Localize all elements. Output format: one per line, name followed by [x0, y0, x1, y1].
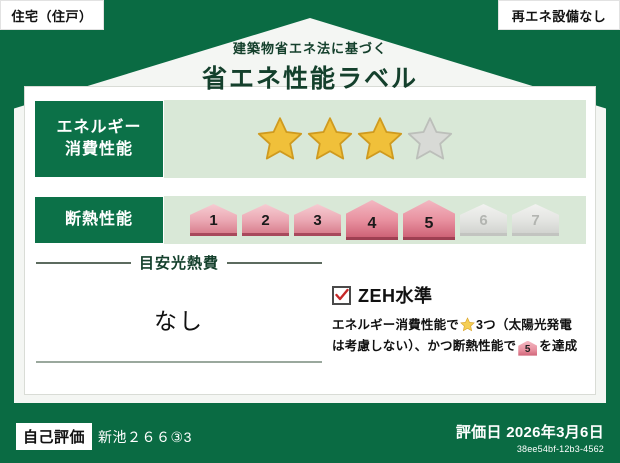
building-type-tag: 住宅（住戸）	[0, 0, 104, 30]
energy-star-rating	[164, 100, 586, 178]
energy-performance-label: 住宅（住戸） 再エネ設備なし 建築物省エネ法に基づく 省エネ性能ラベル エネルギ…	[0, 0, 620, 463]
insulation-grade-1: 1	[190, 204, 237, 236]
evaluation-date: 評価日 2026年3月6日	[456, 421, 604, 442]
evaluation-date-value: 2026年3月6日	[506, 424, 604, 441]
renewable-energy-tag: 再エネ設備なし	[498, 0, 620, 30]
star-empty-icon	[406, 115, 454, 163]
star-filled-icon	[256, 115, 304, 163]
insulation-grade-4: 4	[346, 200, 398, 240]
utility-cost-bottom-rule	[36, 361, 322, 363]
insulation-grade-2: 2	[242, 204, 289, 236]
star-filled-icon	[356, 115, 404, 163]
zeh-desc-star-count: 3つ（太陽光発電	[476, 318, 572, 332]
insulation-grade-3: 3	[294, 204, 341, 236]
utility-cost-value: なし	[36, 277, 322, 361]
zeh-panel: ZEH水準 エネルギー消費性能で3つ（太陽光発電は考慮しない）、かつ断熱性能で5…	[332, 282, 590, 356]
zeh-header: ZEH水準	[332, 282, 590, 308]
energy-label-line1: エネルギー	[56, 117, 141, 139]
rule-left	[36, 262, 131, 264]
star-filled-icon	[306, 115, 354, 163]
renewable-energy-label: 再エネ設備なし	[512, 6, 607, 25]
rule-right	[227, 262, 322, 264]
document-id: 38ee54bf-12b3-4562	[456, 444, 604, 454]
energy-performance-row: エネルギー 消費性能	[34, 100, 586, 178]
zeh-title: ZEH水準	[358, 282, 433, 308]
insulation-grade-7: 7	[512, 204, 559, 236]
property-name: 新池２６６③3	[98, 427, 192, 447]
utility-cost-panel: 目安光熱費 なし	[36, 252, 322, 386]
utility-cost-title: 目安光熱費	[139, 252, 219, 273]
zeh-desc-part1: エネルギー消費性能で	[332, 318, 459, 332]
insulation-label: 断熱性能	[65, 209, 133, 231]
star-icon	[460, 317, 475, 332]
zeh-description: エネルギー消費性能で3つ（太陽光発電は考慮しない）、かつ断熱性能で5を達成	[332, 315, 590, 356]
evaluation-date-label: 評価日	[456, 424, 502, 441]
insulation-grade-5: 5	[403, 200, 455, 240]
insulation-grade-6: 6	[460, 204, 507, 236]
utility-cost-header: 目安光熱費	[36, 252, 322, 273]
insulation-performance-row: 断熱性能 1234567	[34, 196, 586, 244]
insulation-grade-scale: 1234567	[164, 196, 586, 244]
zeh-desc-part2: は考慮しない）、かつ断熱性能で	[332, 339, 516, 353]
zeh-desc-part3: を達成	[539, 339, 577, 353]
insulation-performance-label-cell: 断熱性能	[34, 196, 164, 244]
energy-label-line2: 消費性能	[65, 139, 133, 161]
self-evaluation-badge: 自己評価	[16, 423, 92, 450]
check-icon	[335, 288, 349, 302]
footer-right: 評価日 2026年3月6日 38ee54bf-12b3-4562	[456, 421, 604, 454]
building-type-label: 住宅（住戸）	[11, 6, 92, 25]
footer-left: 自己評価 新池２６６③3	[16, 423, 192, 450]
energy-performance-label-cell: エネルギー 消費性能	[34, 100, 164, 178]
insulation-grade-inline-icon: 5	[518, 341, 537, 356]
zeh-checkbox[interactable]	[332, 286, 351, 305]
